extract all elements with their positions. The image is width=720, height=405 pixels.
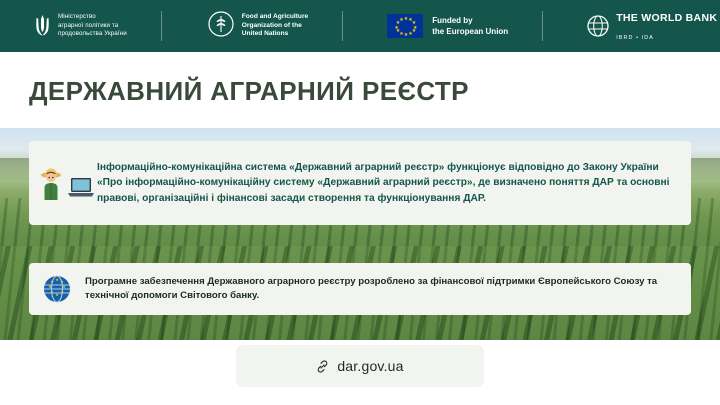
info-card-law-icons [29,166,97,200]
world-bank-subtitle: IBRD • IDA [616,35,654,41]
world-bank-title: THE WORLD BANK [616,12,717,24]
info-card-law-text: Інформаційно-комунікаційна система «Держ… [97,160,691,206]
world-bank-globe-icon [587,15,609,37]
farmer-icon [38,166,64,200]
laptop-icon [66,174,96,200]
info-card-law: Інформаційно-комунікаційна система «Держ… [29,141,691,225]
website-url-label: dar.gov.ua [337,358,403,374]
svg-text:★: ★ [50,279,54,284]
link-icon [316,360,329,373]
fao-wheat-icon [208,11,234,42]
slide: Міністерство аграрної політики та продов… [0,0,720,405]
logo-ministry-of-agrarian-policy: Міністерство аграрної політики та продов… [34,13,127,38]
world-bank-label: THE WORLD BANK IBRD • IDA [616,8,717,44]
svg-text:★: ★ [55,292,59,297]
logo-fao: Food and Agriculture Organization of the… [208,11,308,42]
svg-text:★: ★ [50,290,54,295]
globe-eu-icon: ★ ★ ★ ★ ★ ★ ★ ★ [42,274,72,304]
page-title: ДЕРЖАВНИЙ АГРАРНИЙ РЕЄСТР [29,76,469,107]
logo-european-union: ★ ★ ★ ★ ★ ★ ★ ★ ★ ★ ★ ★ Funded by the Eu… [387,14,508,38]
header-divider-3 [542,11,543,41]
ministry-label: Міністерство аграрної політики та продов… [58,13,127,38]
header-bar: Міністерство аграрної політики та продов… [0,0,720,52]
logo-world-bank: THE WORLD BANK IBRD • IDA [587,8,717,44]
info-card-funding-icon-wrap: ★ ★ ★ ★ ★ ★ ★ ★ [29,274,85,304]
info-card-funding: ★ ★ ★ ★ ★ ★ ★ ★ Програмне забезпечення Д… [29,263,691,315]
svg-text:★: ★ [48,284,52,289]
fao-label: Food and Agriculture Organization of the… [242,13,308,39]
eu-flag-icon: ★ ★ ★ ★ ★ ★ ★ ★ ★ ★ ★ ★ [387,14,423,38]
trident-icon [34,14,51,38]
eu-label: Funded by the European Union [432,15,508,37]
header-divider-1 [161,11,162,41]
svg-text:★: ★ [60,290,64,295]
website-link-pill[interactable]: dar.gov.ua [236,345,484,387]
info-card-funding-text: Програмне забезпечення Державного аграрн… [85,275,691,304]
svg-text:★: ★ [55,277,59,282]
header-divider-2 [342,11,343,41]
svg-text:★: ★ [62,284,66,289]
